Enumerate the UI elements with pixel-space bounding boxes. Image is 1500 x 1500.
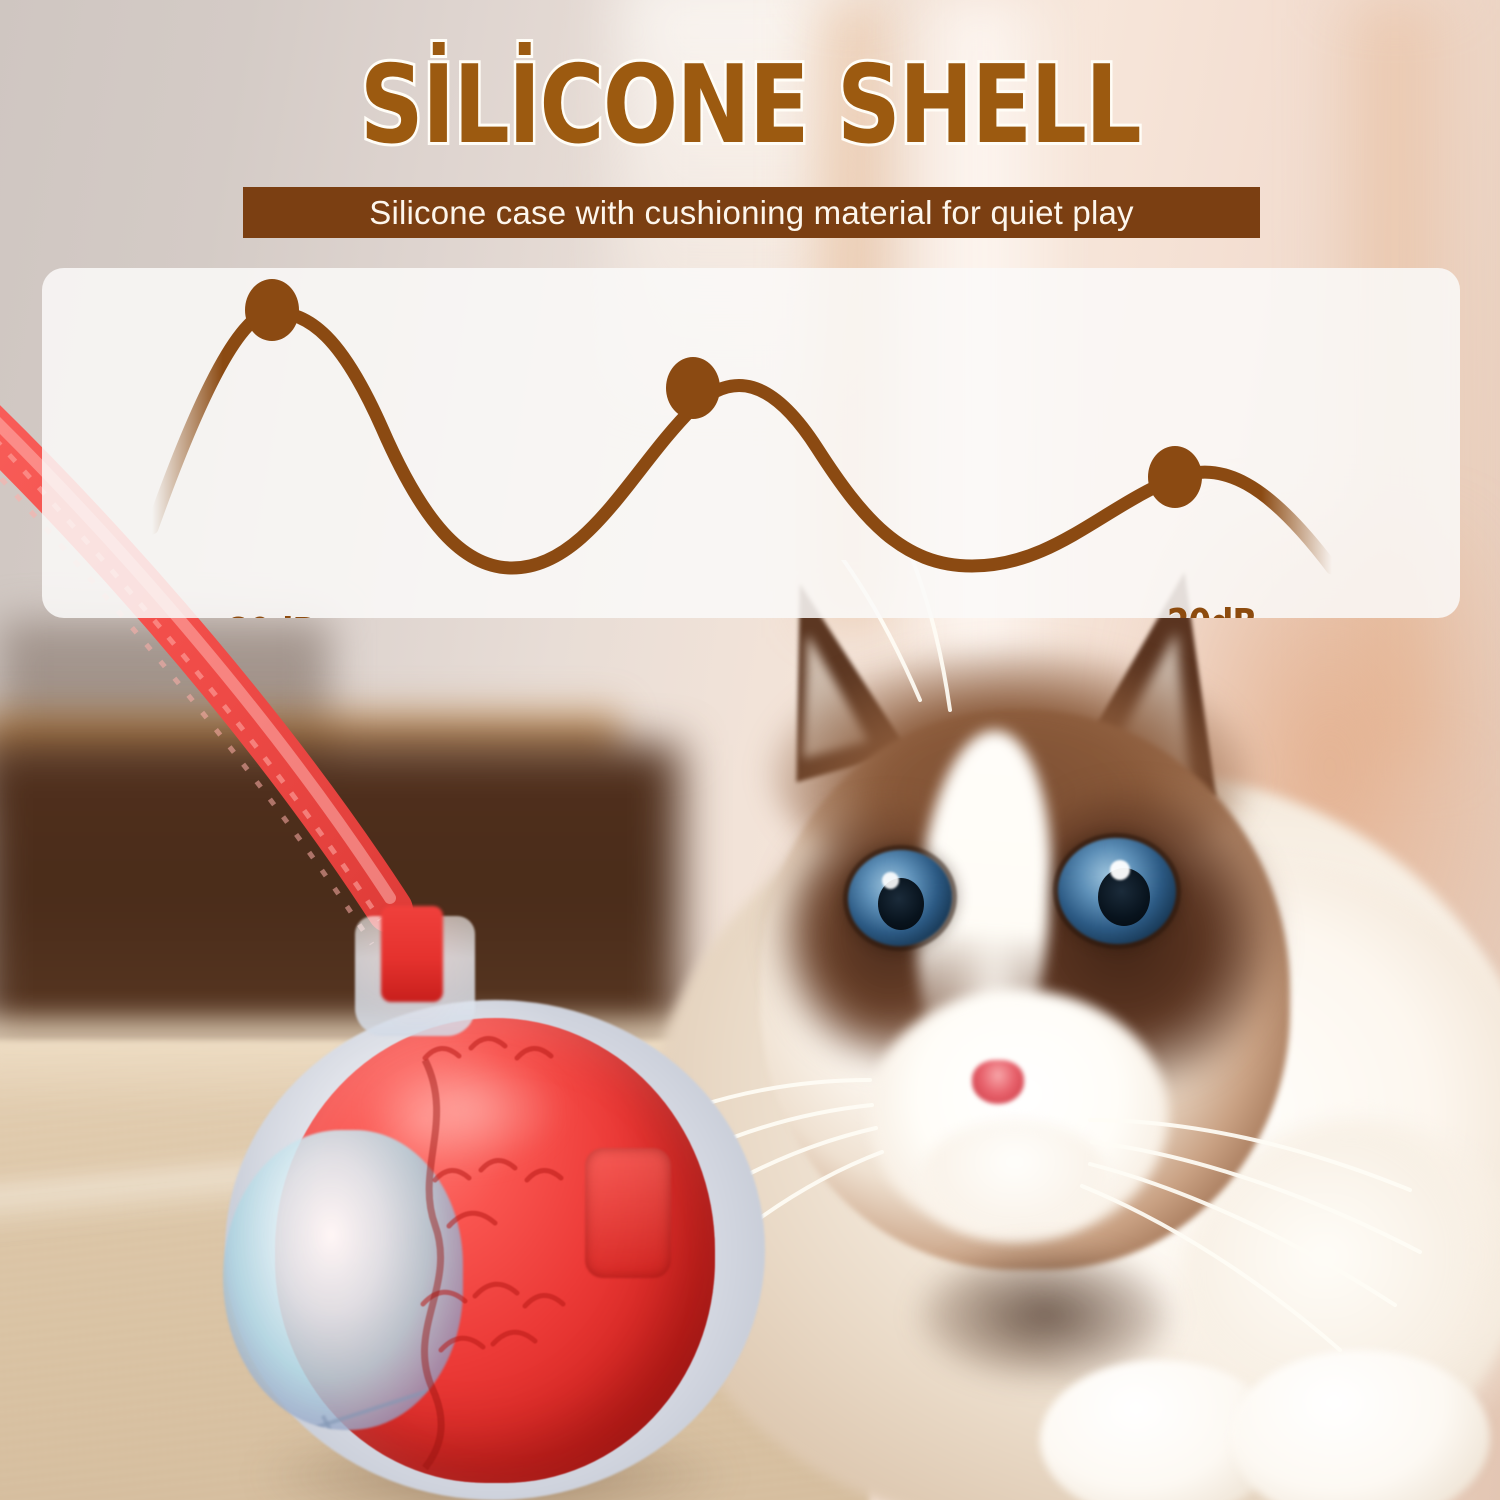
noise-comparison-panel: 80dB Hairdryer ≤50dB Toy ball 20dB Night xyxy=(42,268,1460,618)
noise-wave-chart xyxy=(42,268,1460,618)
page-title: SİLİCONE SHELL xyxy=(135,52,1365,160)
chart-marker-0 xyxy=(245,279,299,341)
cat-ball-toy xyxy=(215,900,795,1500)
chart-value-night: 20dB xyxy=(1167,601,1256,618)
product-infographic: SİLİCONE SHELL Silicone case with cushio… xyxy=(0,0,1500,1500)
cat-chest-shadow xyxy=(920,1250,1170,1380)
cat-eye-glint-left xyxy=(882,872,899,889)
chart-label-night: 20dB Night xyxy=(1167,601,1272,618)
cat-chin xyxy=(920,1120,1110,1240)
chart-marker-1 xyxy=(666,357,720,419)
chart-label-hairdryer: 80dB Hairdryer xyxy=(227,610,394,618)
subtitle-banner: Silicone case with cushioning material f… xyxy=(243,187,1260,238)
subtitle-text: Silicone case with cushioning material f… xyxy=(369,194,1134,232)
cat-eye-glint-right xyxy=(1110,860,1130,880)
ball-rope-anchor xyxy=(381,906,443,1002)
chart-value-hairdryer: 80dB xyxy=(227,610,369,618)
cat-nose xyxy=(972,1060,1024,1104)
chart-marker-2 xyxy=(1148,446,1202,508)
ball-seam-line xyxy=(305,1050,605,1470)
